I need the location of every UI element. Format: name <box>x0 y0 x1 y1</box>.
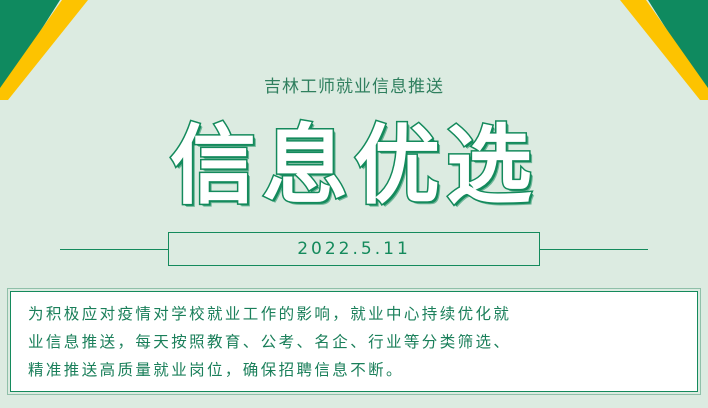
poster-subtitle: 吉林工师就业信息推送 <box>0 72 708 97</box>
rule-line-left <box>60 249 168 250</box>
poster-canvas: 吉林工师就业信息推送 信息优选 2022.5.11 为积极应对疫情对学校就业工作… <box>0 0 708 408</box>
date-text: 2022.5.11 <box>297 239 411 259</box>
body-line: 业信息推送，每天按照教育、公考、名企、行业等分类筛选、 <box>28 328 680 356</box>
body-paragraph: 为积极应对疫情对学校就业工作的影响，就业中心持续优化就 业信息推送，每天按照教育… <box>28 300 680 384</box>
rule-line-right <box>540 249 648 250</box>
date-box: 2022.5.11 <box>168 232 540 266</box>
body-line: 为积极应对疫情对学校就业工作的影响，就业中心持续优化就 <box>28 300 680 328</box>
poster-title: 信息优选 <box>0 118 708 214</box>
body-text-box: 为积极应对疫情对学校就业工作的影响，就业中心持续优化就 业信息推送，每天按照教育… <box>10 291 698 392</box>
body-line: 精准推送高质量就业岗位，确保招聘信息不断。 <box>28 356 680 384</box>
date-rule: 2022.5.11 <box>60 230 648 268</box>
